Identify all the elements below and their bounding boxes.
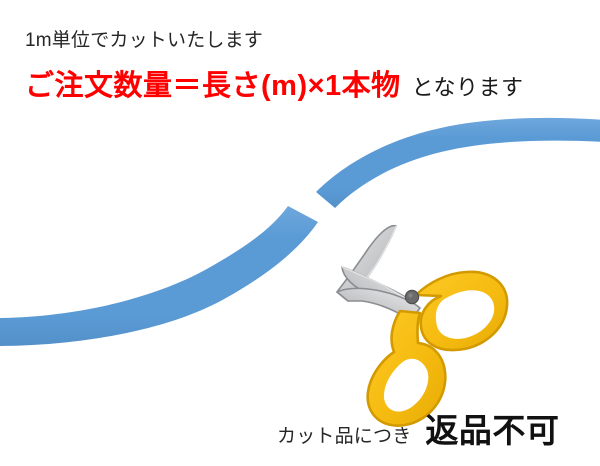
no-return-line: カット品につき返品不可 bbox=[277, 414, 559, 447]
scissors-handle-right bbox=[416, 272, 507, 350]
order-formula-emphasis: ご注文数量＝長さ(m)×1本物 bbox=[25, 70, 401, 102]
hose-right-segment bbox=[316, 118, 600, 208]
scissors bbox=[337, 226, 507, 426]
cut-unit-text: 1m単位でカットいたします bbox=[25, 31, 263, 50]
hose-left-segment bbox=[0, 206, 318, 346]
cut-notice-image: 1m単位でカットいたします ご注文数量＝長さ(m)×1本物となります カット品に… bbox=[0, 0, 600, 466]
order-formula-suffix: となります bbox=[401, 75, 524, 100]
no-return-emphasis: 返品不可 bbox=[411, 412, 559, 449]
no-return-prefix: カット品につき bbox=[277, 426, 411, 447]
order-formula-line: ご注文数量＝長さ(m)×1本物となります bbox=[25, 72, 524, 101]
